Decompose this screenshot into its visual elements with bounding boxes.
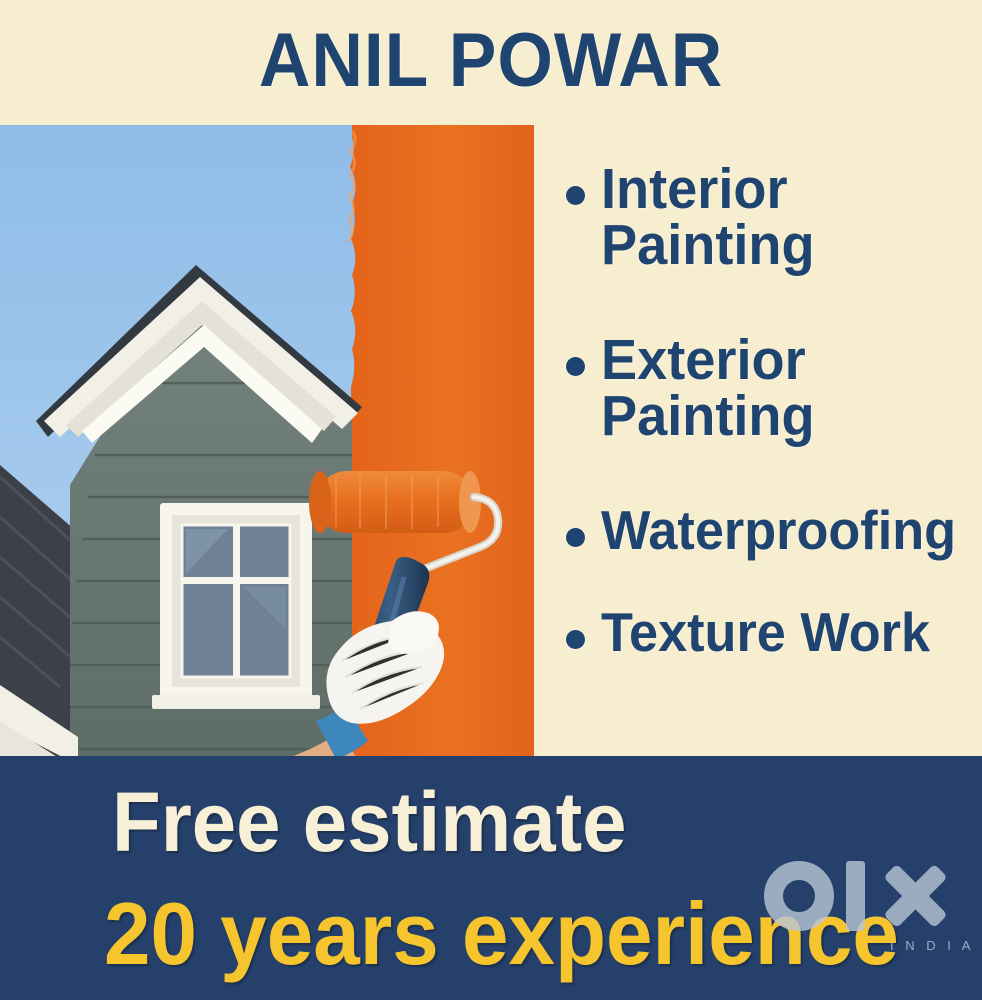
service-item-interior-painting: Interior Painting xyxy=(566,162,982,274)
service-item-exterior-painting: Exterior Painting xyxy=(566,333,982,445)
painting-service-poster: ANIL POWAR xyxy=(0,0,982,1000)
poster-header: ANIL POWAR xyxy=(0,0,982,125)
business-name-title: ANIL POWAR xyxy=(259,23,724,99)
services-list: Interior Painting Exterior Painting Wate… xyxy=(548,140,982,756)
years-experience-text: 20 years experience xyxy=(104,890,899,978)
service-item-waterproofing: Waterproofing xyxy=(566,504,982,558)
service-label: Texture Work xyxy=(601,606,930,660)
offer-banner: Free estimate 20 years experience I N D … xyxy=(0,756,982,1000)
service-label: Waterproofing xyxy=(601,504,956,558)
bullet-dot-icon xyxy=(566,528,585,547)
service-item-texture-work: Texture Work xyxy=(566,606,982,660)
olx-india-label: I N D I A xyxy=(890,938,974,953)
service-label: Exterior Painting xyxy=(601,333,815,445)
painter-photo xyxy=(0,125,534,756)
bullet-dot-icon xyxy=(566,186,585,205)
painter-photo-illustration xyxy=(0,125,534,756)
bullet-dot-icon xyxy=(566,357,585,376)
service-label: Interior Painting xyxy=(601,162,815,274)
bullet-dot-icon xyxy=(566,630,585,649)
free-estimate-text: Free estimate xyxy=(112,780,627,864)
